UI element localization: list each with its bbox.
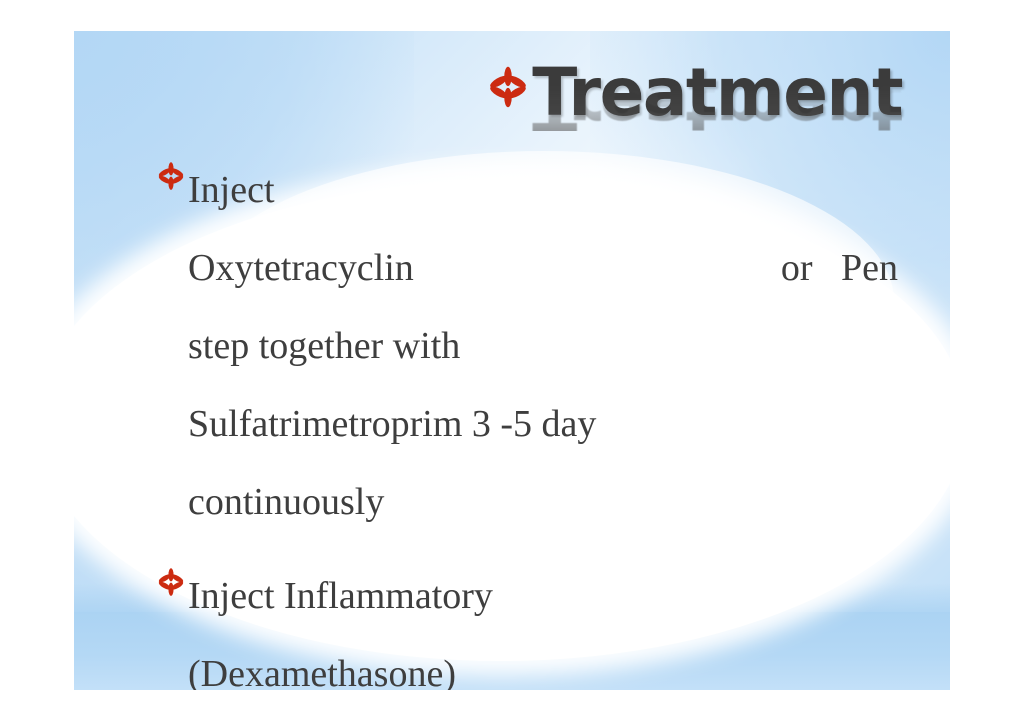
bullet-paragraph-1: Inject Oxytetracyclin or Pen step togeth… bbox=[156, 151, 950, 541]
bullet-paragraph-1-text: Inject Oxytetracyclin or Pen step togeth… bbox=[156, 151, 950, 541]
body-line-right: or Pen bbox=[781, 229, 898, 307]
body-line: Inject Inflammatory bbox=[188, 557, 950, 635]
body-line: Inject bbox=[188, 151, 950, 229]
body-line-left: Oxytetracyclin bbox=[188, 229, 414, 307]
slide-canvas: Treatment Treatment bbox=[74, 31, 950, 690]
body-line: continuously bbox=[188, 463, 950, 541]
asterisk-flower-bullet-icon bbox=[156, 161, 186, 191]
slide-title-reflection: Treatment bbox=[486, 81, 902, 131]
body-line: step together with bbox=[188, 307, 950, 385]
bullet-paragraph-2-text: Inject Inflammatory (Dexamethasone) bbox=[156, 557, 950, 690]
slide-body-block: Inject Oxytetracyclin or Pen step togeth… bbox=[156, 151, 950, 690]
body-line-justified: Oxytetracyclin or Pen bbox=[188, 229, 898, 307]
body-line-clipped: (Dexamethasone) bbox=[188, 635, 950, 690]
bullet-paragraph-2: Inject Inflammatory (Dexamethasone) bbox=[156, 557, 950, 690]
body-line: Sulfatrimetroprim 3 -5 day bbox=[188, 385, 950, 463]
slide-root: Treatment Treatment bbox=[0, 0, 1024, 724]
asterisk-flower-bullet-icon bbox=[156, 567, 186, 597]
